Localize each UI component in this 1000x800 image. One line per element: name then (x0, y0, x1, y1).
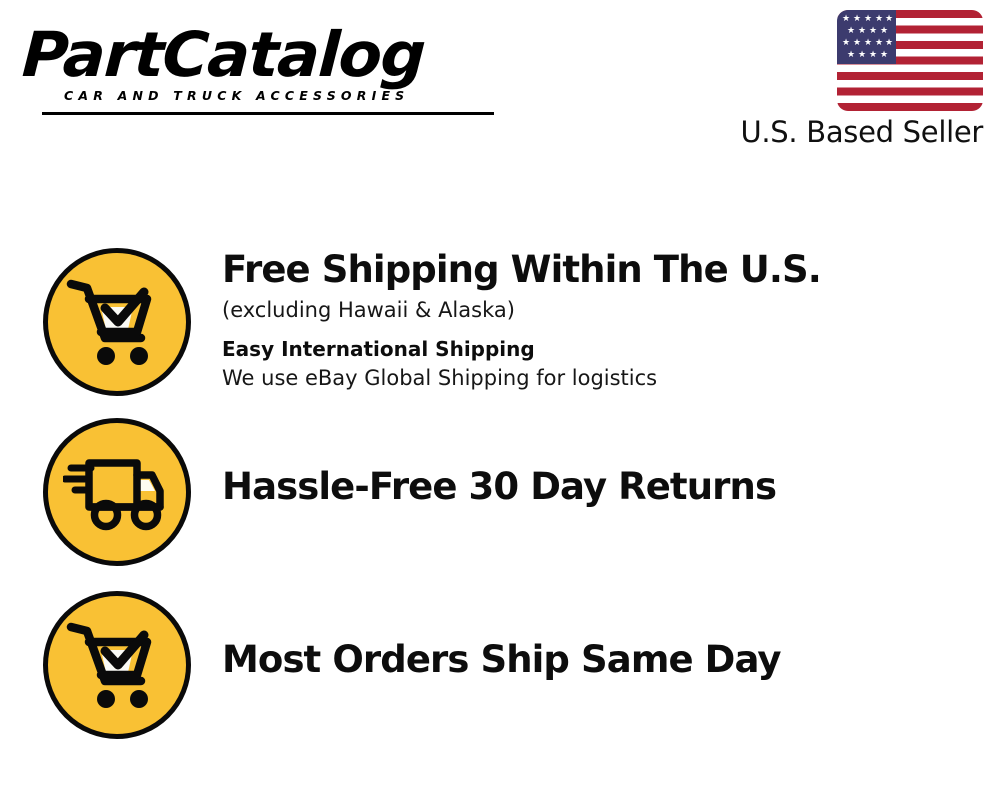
feature-text: Free Shipping Within The U.S. (excluding… (191, 248, 1000, 393)
feature-subtext-secondary: We use eBay Global Shipping for logistic… (222, 363, 1000, 393)
page-header: PartCatalog CAR AND TRUCK ACCESSORIES ★ … (0, 0, 1000, 175)
feature-subtext-bold: Easy International Shipping (222, 335, 1000, 363)
delivery-truck-icon (43, 418, 191, 566)
feature-heading: Hassle-Free 30 Day Returns (222, 465, 1000, 509)
feature-subtext: (excluding Hawaii & Alaska) (222, 295, 1000, 325)
shopping-cart-check-icon (43, 591, 191, 739)
us-flag-icon: ★ ★ ★ ★ ★ ★ ★ ★ ★ ★ ★ ★ ★ ★ ★ ★ ★ ★ (837, 10, 983, 111)
us-based-seller-block: ★ ★ ★ ★ ★ ★ ★ ★ ★ ★ ★ ★ ★ ★ ★ ★ ★ ★ U.S.… (837, 10, 983, 149)
feature-row: Most Orders Ship Same Day (0, 591, 1000, 739)
brand-logo[interactable]: PartCatalog CAR AND TRUCK ACCESSORIES (24, 24, 494, 114)
brand-wordmark: PartCatalog (21, 24, 504, 86)
feature-heading: Free Shipping Within The U.S. (222, 248, 1000, 292)
us-based-seller-label: U.S. Based Seller (713, 115, 983, 149)
feature-row: Hassle-Free 30 Day Returns (0, 418, 1000, 566)
feature-heading: Most Orders Ship Same Day (222, 638, 1000, 682)
flag-canton: ★ ★ ★ ★ ★ ★ ★ ★ ★ ★ ★ ★ ★ ★ ★ ★ ★ ★ (837, 10, 896, 64)
shopping-cart-check-icon (43, 248, 191, 396)
feature-text: Hassle-Free 30 Day Returns (191, 418, 1000, 509)
brand-underline-rule (42, 112, 494, 115)
feature-text: Most Orders Ship Same Day (191, 591, 1000, 682)
feature-row: Free Shipping Within The U.S. (excluding… (0, 248, 1000, 396)
